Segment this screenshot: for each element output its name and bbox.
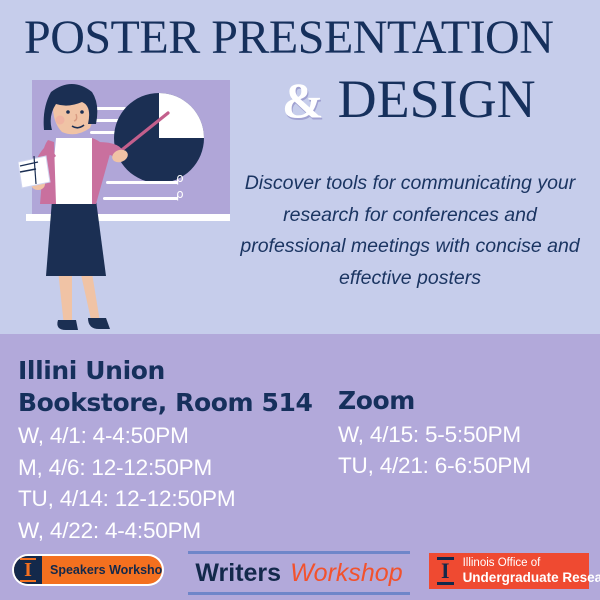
- logo-ugr-line1: Illinois Office of: [463, 556, 600, 570]
- logo-ugr-line2: Undergraduate Research: [463, 570, 600, 586]
- session-time: W, 4/1: 4-4:50PM: [18, 420, 328, 452]
- logo-writers-workshop[interactable]: Writers Workshop: [188, 551, 410, 595]
- location-line-2: Bookstore, Room 514: [18, 387, 328, 419]
- ampersand-glyph: &: [282, 72, 324, 128]
- svg-text:ρ: ρ: [176, 187, 184, 201]
- page-title: POSTER PRESENTATION: [24, 14, 584, 62]
- session-block-in-person: Illini Union Bookstore, Room 514 W, 4/1:…: [18, 355, 328, 546]
- session-time: W, 4/15: 5-5:50PM: [338, 419, 593, 451]
- session-time: M, 4/6: 12-12:50PM: [18, 452, 328, 484]
- logo-speakers-workshop[interactable]: I Speakers Workshop: [12, 554, 164, 586]
- location-line-1: Illini Union: [18, 355, 328, 387]
- block-i-glyph: I: [20, 558, 36, 582]
- session-times-in-person: W, 4/1: 4-4:50PM M, 4/6: 12-12:50PM TU, …: [18, 420, 328, 546]
- illinois-block-i-icon: I: [437, 557, 454, 585]
- logo-writers-word1: Writers: [195, 559, 281, 588]
- logo-speakers-pill: I Speakers Workshop: [14, 556, 162, 584]
- logo-undergraduate-research[interactable]: I Illinois Office of Undergraduate Resea…: [429, 553, 589, 589]
- illinois-block-i-icon: I: [14, 556, 42, 584]
- page-subtitle-word: DESIGN: [338, 69, 536, 129]
- location-title-online: Zoom: [338, 385, 593, 417]
- logo-speakers-label: Speakers Workshop: [42, 563, 162, 577]
- location-title-in-person: Illini Union Bookstore, Room 514: [18, 355, 328, 418]
- session-time: W, 4/22: 4-4:50PM: [18, 515, 328, 547]
- poster-canvas: POSTER PRESENTATION &DESIGN Discover too…: [0, 0, 600, 600]
- session-time: TU, 4/21: 6-6:50PM: [338, 450, 593, 482]
- page-subtitle: &DESIGN: [282, 72, 536, 126]
- session-times-online: W, 4/15: 5-5:50PM TU, 4/21: 6-6:50PM: [338, 419, 593, 482]
- logo-writers-word2: Workshop: [290, 559, 403, 588]
- session-block-online: Zoom W, 4/15: 5-5:50PM TU, 4/21: 6-6:50P…: [338, 385, 593, 482]
- session-time: TU, 4/14: 12-12:50PM: [18, 483, 328, 515]
- presenter-illustration: ρ ρ: [18, 80, 230, 335]
- description-text: Discover tools for communicating your re…: [230, 168, 590, 294]
- svg-text:ρ: ρ: [176, 171, 184, 185]
- logo-ugr-text: Illinois Office of Undergraduate Researc…: [463, 556, 600, 587]
- location-line-1: Zoom: [338, 385, 593, 417]
